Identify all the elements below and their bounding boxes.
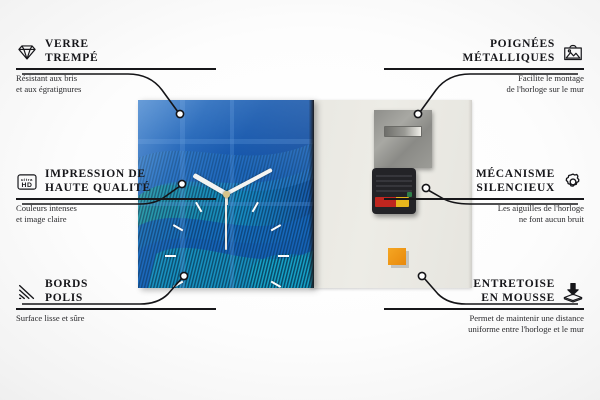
callout-header: ultra HD IMPRESSION DE HAUTE QUALITÉ — [16, 168, 216, 195]
hanger-slot — [384, 126, 422, 137]
foam-spacer — [388, 248, 406, 265]
second-hand — [225, 194, 227, 250]
callout-rule — [16, 198, 216, 200]
callout-rule — [384, 308, 584, 310]
arrow-down-pad-icon — [562, 281, 584, 303]
callout-title: POIGNÉES MÉTALLIQUES — [463, 38, 555, 65]
callout-bords-polis: BORDS POLIS Surface lisse et sûre — [16, 278, 216, 324]
product-infographic: VERRE TREMPÉ Résistant aux bris et aux é… — [0, 0, 600, 400]
callout-title: MÉCANISME SILENCIEUX — [476, 168, 555, 195]
callout-mecanisme-silencieux: MÉCANISME SILENCIEUX Les aiguilles de l'… — [384, 168, 584, 226]
callout-rule — [384, 68, 584, 70]
callout-rule — [384, 198, 584, 200]
hour-tick — [226, 202, 259, 257]
metal-hanger-plate — [374, 110, 432, 168]
picture-frame-icon — [562, 41, 584, 63]
callout-header: MÉCANISME SILENCIEUX — [384, 168, 584, 195]
callout-desc: Permet de maintenir une distance uniform… — [384, 313, 584, 336]
callout-desc: Surface lisse et sûre — [16, 313, 216, 324]
callout-header: POIGNÉES MÉTALLIQUES — [384, 38, 584, 65]
callout-desc: Facilite le montage de l'horloge sur le … — [384, 73, 584, 96]
callout-desc: Résistant aux bris et aux égratignures — [16, 73, 216, 96]
hour-tick — [227, 255, 289, 257]
callout-desc: Couleurs intenses et image claire — [16, 203, 216, 226]
callout-header: BORDS POLIS — [16, 278, 216, 305]
callout-rule — [16, 308, 216, 310]
callout-rule — [16, 68, 216, 70]
callout-title: ENTRETOISE EN MOUSSE — [473, 278, 555, 305]
hour-tick — [165, 255, 227, 257]
clock-pivot — [223, 191, 230, 198]
minute-hand — [225, 168, 273, 196]
callout-poignees-metalliques: POIGNÉES MÉTALLIQUES Facilite le montage… — [384, 38, 584, 96]
diamond-icon — [16, 41, 38, 63]
callout-entretoise-en-mousse: ENTRETOISE EN MOUSSE Permet de maintenir… — [384, 278, 584, 336]
svg-text:HD: HD — [21, 182, 32, 189]
callout-title: BORDS POLIS — [45, 278, 88, 305]
callout-title: IMPRESSION DE HAUTE QUALITÉ — [45, 168, 151, 195]
diagonal-stripes-icon — [16, 281, 38, 303]
callout-header: ENTRETOISE EN MOUSSE — [384, 278, 584, 305]
callout-header: VERRE TREMPÉ — [16, 38, 216, 65]
callout-desc: Les aiguilles de l'horloge ne font aucun… — [384, 203, 584, 226]
ultra-hd-icon: ultra HD — [16, 171, 38, 193]
gear-icon — [562, 171, 584, 193]
callout-title: VERRE TREMPÉ — [45, 38, 98, 65]
callout-verre-trempe: VERRE TREMPÉ Résistant aux bris et aux é… — [16, 38, 216, 96]
hour-tick — [226, 256, 228, 288]
callout-impression-haute-qualite: ultra HD IMPRESSION DE HAUTE QUALITÉ Cou… — [16, 168, 216, 226]
